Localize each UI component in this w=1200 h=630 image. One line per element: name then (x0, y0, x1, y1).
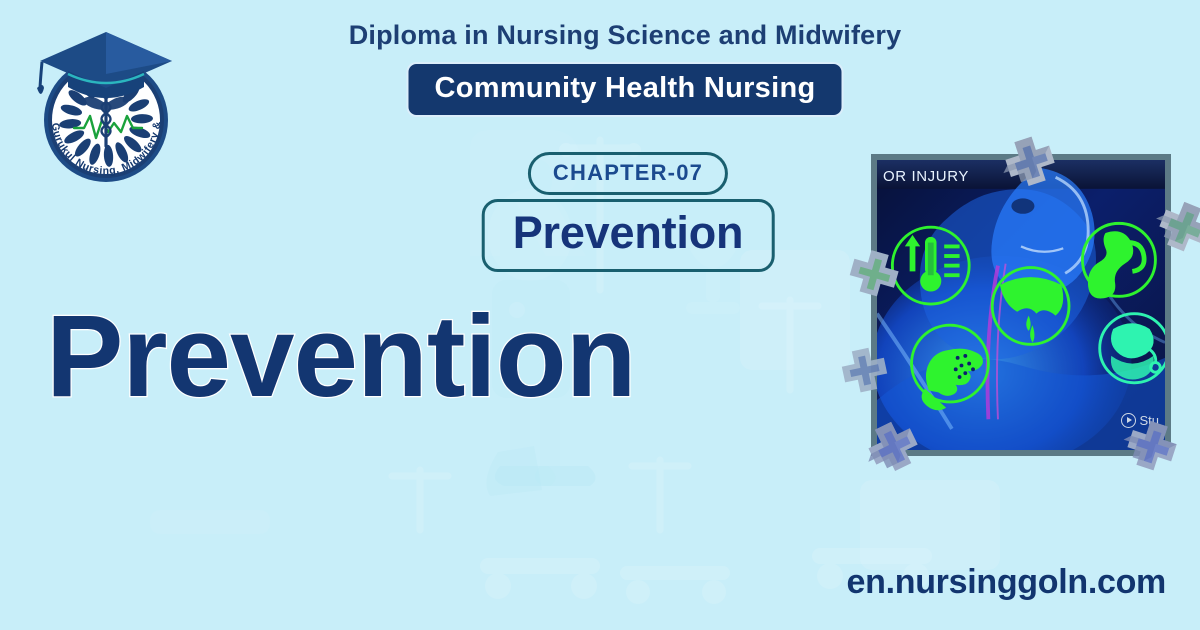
chapter-number-pill: CHAPTER-07 (528, 152, 728, 195)
program-title: Diploma in Nursing Science and Midwifery (0, 20, 1200, 51)
chapter-title-box: Prevention (482, 199, 775, 272)
medical-illustration-card: OR INJURY Stu (871, 154, 1171, 456)
photo-watermark: Stu (1121, 413, 1159, 428)
photo-overlay-label: OR INJURY (883, 168, 969, 185)
website-url: en.nursinggoln.com (847, 563, 1167, 602)
page-title: Prevention (46, 296, 635, 418)
medical-illustration-frame: OR INJURY Stu (871, 154, 1171, 456)
course-badge: Community Health Nursing (407, 62, 844, 117)
photo-watermark-text: Stu (1139, 413, 1159, 428)
poster-canvas: Gurukul Nursing, Midwifery & Patient Car… (0, 0, 1200, 630)
play-circle-icon (1121, 413, 1136, 428)
medical-illustration-image: OR INJURY Stu (877, 160, 1165, 450)
